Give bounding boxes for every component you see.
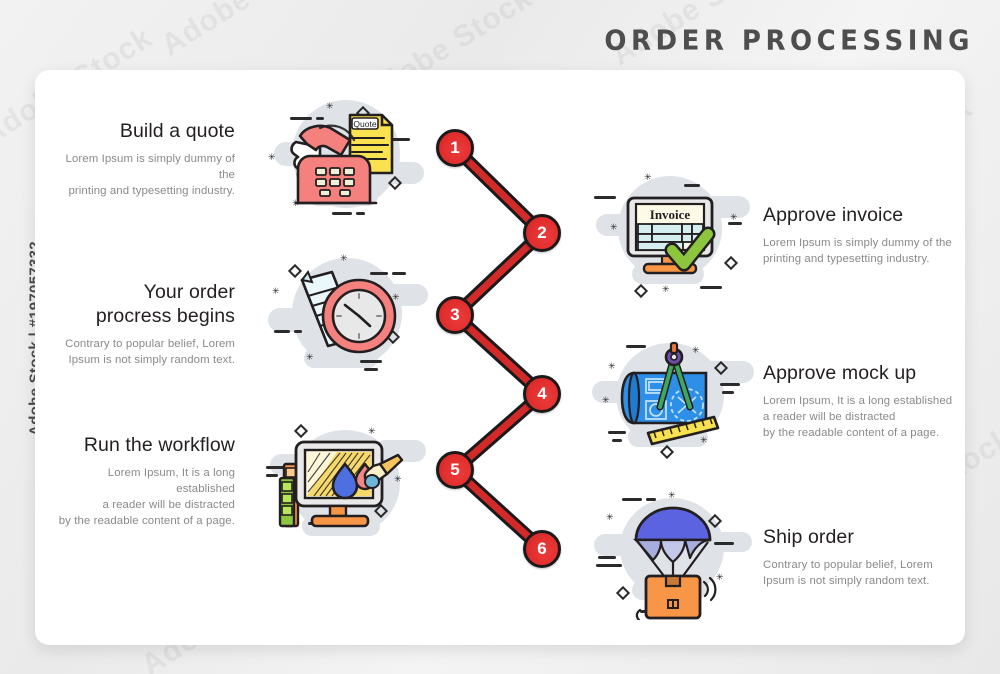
step-heading-3-line-2: procress begins — [55, 305, 235, 329]
quote-label: Quote — [353, 119, 376, 129]
step-text-1: Build a quote Lorem Ipsum is simply dumm… — [55, 120, 235, 199]
step-body-5: Lorem Ipsum, It is a long established a … — [48, 465, 235, 530]
step-node-6[interactable]: 6 — [523, 530, 561, 568]
step-body-3-line-1: Contrary to popular belief, Lorem — [55, 336, 235, 352]
step-node-1[interactable]: 1 — [436, 129, 474, 167]
step-heading-4: Approve mock up — [763, 362, 955, 386]
step-body-3: Contrary to popular belief, Lorem Ipsum … — [55, 336, 235, 368]
blueprint-compass-icon — [588, 335, 758, 465]
step-node-5[interactable]: 5 — [436, 451, 474, 489]
document-clock-icon — [262, 250, 432, 380]
icon-scene-6: ✳ ✳ ✳ ✳ — [588, 490, 758, 620]
step-body-6: Contrary to popular belief, Lorem Ipsum … — [763, 557, 953, 589]
step-body-4-line-1: Lorem Ipsum, It is a long established — [763, 393, 955, 409]
step-body-5-line-3: by the readable content of a page. — [48, 513, 235, 529]
invoice-check-icon: Invoice — [588, 170, 758, 300]
step-heading-3-line-1: Your order — [55, 281, 235, 305]
step-body-6-line-1: Contrary to popular belief, Lorem — [763, 557, 953, 573]
step-text-5: Run the workflow Lorem Ipsum, It is a lo… — [48, 434, 235, 530]
step-body-3-line-2: Ipsum is not simply random text. — [55, 352, 235, 368]
step-body-1-line-2: printing and typesetting industry. — [55, 183, 235, 199]
step-heading-2: Approve invoice — [763, 204, 953, 228]
step-body-4: Lorem Ipsum, It is a long established a … — [763, 393, 955, 442]
step-body-2: Lorem Ipsum is simply dummy of the print… — [763, 235, 953, 267]
step-node-4[interactable]: 4 — [523, 375, 561, 413]
infographic-canvas: Adobe Stock Adobe Stock Adobe Stock Adob… — [0, 0, 1000, 674]
step-body-6-line-2: Ipsum is not simply random text. — [763, 573, 953, 589]
step-body-5-line-1: Lorem Ipsum, It is a long established — [48, 465, 235, 497]
icon-scene-2: ✳ ✳ ✳ ✳ Invoice — [588, 170, 758, 300]
icon-scene-1: ✳ ✳ ✳ Quote — [262, 90, 432, 220]
step-body-1-line-1: Lorem Ipsum is simply dummy of the — [55, 151, 235, 183]
step-text-2: Approve invoice Lorem Ipsum is simply du… — [763, 204, 953, 267]
step-body-4-line-2: a reader will be distracted — [763, 409, 955, 425]
step-body-1: Lorem Ipsum is simply dummy of the print… — [55, 151, 235, 200]
step-text-6: Ship order Contrary to popular belief, L… — [763, 526, 953, 589]
icon-scene-4: ✳ ✳ ✳ ✳ — [588, 335, 758, 465]
step-heading-1: Build a quote — [55, 120, 235, 144]
parachute-box-icon — [588, 490, 758, 620]
step-heading-5: Run the workflow — [48, 434, 235, 458]
step-heading-6: Ship order — [763, 526, 953, 550]
phone-quote-icon: Quote — [262, 90, 432, 220]
step-body-2-line-1: Lorem Ipsum is simply dummy of the — [763, 235, 953, 251]
step-text-3: Your order procress begins Contrary to p… — [55, 281, 235, 368]
icon-scene-3: ✳ ✳ ✳ ✳ — [262, 250, 432, 380]
step-text-4: Approve mock up Lorem Ipsum, It is a lon… — [763, 362, 955, 441]
icon-scene-5: ✳ ✳ ✳ — [262, 420, 432, 550]
design-tablet-icon — [262, 420, 432, 550]
step-heading-3: Your order procress begins — [55, 281, 235, 329]
step-node-3[interactable]: 3 — [436, 296, 474, 334]
step-node-2[interactable]: 2 — [523, 214, 561, 252]
step-body-4-line-3: by the readable content of a page. — [763, 425, 955, 441]
step-body-5-line-2: a reader will be distracted — [48, 497, 235, 513]
step-body-2-line-2: printing and typesetting industry. — [763, 251, 953, 267]
invoice-label: Invoice — [650, 207, 691, 222]
